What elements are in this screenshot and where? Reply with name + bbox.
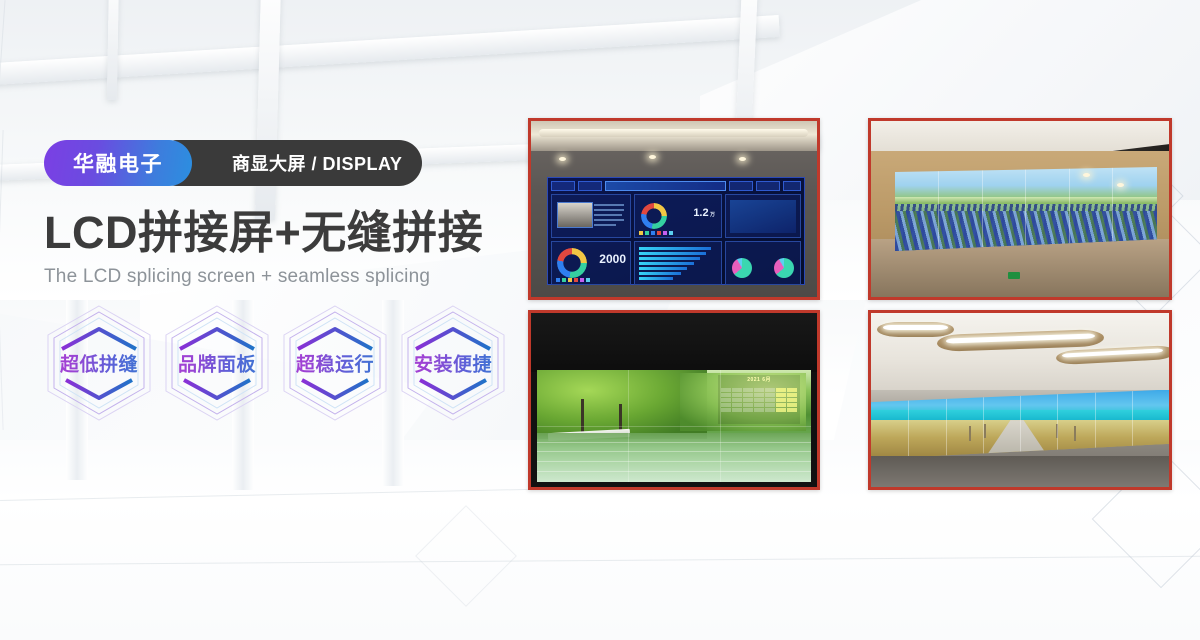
chart-legend xyxy=(556,278,628,282)
spotlight xyxy=(649,155,656,159)
product-gallery: 1.2 万 xyxy=(528,118,1172,490)
video-wall-screen: 1.2 万 xyxy=(547,177,805,285)
dashboard-tab xyxy=(729,181,753,191)
calendar-title: 2021 6月 xyxy=(718,376,800,383)
flow-diagram xyxy=(730,200,796,233)
feature-label: 安装便捷 xyxy=(394,350,512,377)
dashboard-panel-ring2: 2000 xyxy=(551,241,631,285)
ceiling-cove-light xyxy=(539,129,808,137)
feature-label: 超稳运行 xyxy=(276,350,394,377)
gallery-photo-solar-farm-video-wall[interactable] xyxy=(868,118,1172,300)
badge-row: 商显大屏 / DISPLAY 华融电子 xyxy=(44,140,514,186)
feature-list: 超低拼缝 品牌面板 xyxy=(40,304,514,422)
spotlight xyxy=(559,157,566,161)
kpi-value: 1.2 万 xyxy=(693,207,715,219)
kpi-value: 2000 xyxy=(599,252,626,266)
dashboard-tab xyxy=(756,181,780,191)
dashboard-row-1: 1.2 万 xyxy=(551,194,801,238)
gallery-photo-beach-boardwalk-video-wall[interactable] xyxy=(868,310,1172,490)
dashboard-panel-pies xyxy=(725,241,801,285)
bar-chart xyxy=(639,247,717,281)
dashboard-panel-intro xyxy=(551,194,631,238)
donut-chart xyxy=(557,248,587,278)
dashboard-header xyxy=(551,181,801,191)
brand-badge: 华融电子 xyxy=(44,140,192,186)
ceiling-light-strip xyxy=(883,325,949,330)
page-title: LCD拼接屏+无缝拼接 xyxy=(44,208,514,258)
pie-chart xyxy=(774,258,794,278)
photo-content xyxy=(871,313,1169,487)
feature-item[interactable]: 超低拼缝 xyxy=(40,304,158,422)
feature-item[interactable]: 超稳运行 xyxy=(276,304,394,422)
lake-water xyxy=(537,433,812,482)
dashboard-panel-flow xyxy=(725,194,801,238)
gallery-photo-willow-lake-video-wall[interactable]: 2021 6月 xyxy=(528,310,820,490)
feature-item[interactable]: 安装便捷 xyxy=(394,304,512,422)
photo-content: 1.2 万 xyxy=(531,121,817,297)
feature-label: 品牌面板 xyxy=(158,350,276,377)
exit-sign xyxy=(1008,272,1020,279)
category-badge: 商显大屏 / DISPLAY xyxy=(154,140,422,186)
dashboard-panel-bars xyxy=(634,241,722,285)
calendar-grid xyxy=(721,388,797,412)
panel-thumbnail xyxy=(557,202,593,228)
spotlight xyxy=(1117,183,1124,187)
floor xyxy=(871,456,1169,487)
gallery-photo-dashboard-video-wall[interactable]: 1.2 万 xyxy=(528,118,820,300)
spotlight xyxy=(1083,173,1090,177)
video-wall-screen xyxy=(895,167,1157,251)
chart-legend xyxy=(639,231,718,235)
photo-content: 2021 6月 xyxy=(531,313,817,487)
dashboard-tab xyxy=(578,181,602,191)
dashboard-tab xyxy=(783,181,801,191)
video-wall-screen: 2021 6月 xyxy=(537,370,812,481)
wall-above-screen xyxy=(531,313,817,372)
dashboard-panel-donut: 1.2 万 xyxy=(634,194,722,238)
banner-copy: 商显大屏 / DISPLAY 华融电子 LCD拼接屏+无缝拼接 The LCD … xyxy=(44,140,514,422)
dashboard-title-bar xyxy=(605,181,726,191)
page-subtitle: The LCD splicing screen + seamless splic… xyxy=(44,266,514,288)
photo-content xyxy=(871,121,1169,297)
pie-chart xyxy=(732,258,752,278)
dashboard-tab xyxy=(551,181,575,191)
spotlight xyxy=(739,157,746,161)
feature-item[interactable]: 品牌面板 xyxy=(158,304,276,422)
calendar-overlay: 2021 6月 xyxy=(718,375,800,424)
feature-label: 超低拼缝 xyxy=(40,350,158,377)
promo-banner: 商显大屏 / DISPLAY 华融电子 LCD拼接屏+无缝拼接 The LCD … xyxy=(0,0,1200,640)
donut-chart xyxy=(641,203,667,229)
dashboard-row-2: 2000 xyxy=(551,241,801,285)
